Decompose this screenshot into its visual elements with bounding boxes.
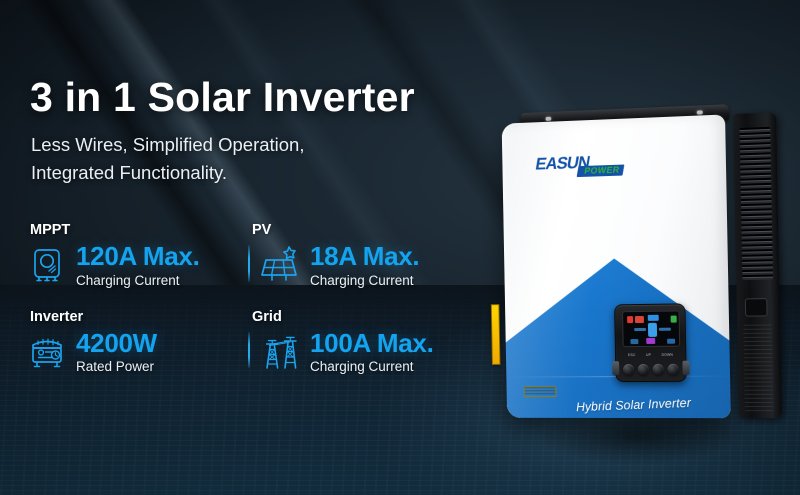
lcd-control-panel: ESC UP DOWN: [614, 303, 687, 382]
softkey-label-up: UP: [646, 352, 651, 356]
inverter-box-icon: [26, 331, 68, 373]
feature-pv: PV 18A Max. Charging C: [238, 222, 450, 288]
display-status-right: [667, 339, 675, 344]
display-icon-grid: [671, 316, 677, 323]
softkey-label-esc: ESC: [628, 353, 636, 357]
display-status-left: [630, 339, 638, 344]
feature-mppt-label: MPPT: [30, 222, 238, 238]
panel-ear-right: [682, 361, 689, 375]
feature-inverter-sub: Rated Power: [76, 359, 157, 374]
feature-grid-value: 100A Max.: [310, 330, 434, 358]
yellow-warning-strip: [491, 304, 501, 365]
softkey-label-down: DOWN: [662, 352, 674, 356]
easun-power-logo: EASUN POWER: [533, 152, 627, 181]
spec-label-sticker: [743, 324, 773, 414]
display-icon-solar: [627, 316, 633, 323]
product-banner: 3 in 1 Solar Inverter Less Wires, Simpli…: [0, 0, 800, 495]
feature-pv-sub: Charging Current: [310, 273, 419, 288]
button-up[interactable]: [638, 363, 649, 374]
display-value-battery: [648, 315, 659, 321]
control-buttons[interactable]: [621, 360, 681, 378]
display-value-pv: [635, 316, 644, 323]
feature-row-top: MPPT 120A Max. Cha: [26, 222, 466, 288]
button-esc[interactable]: [623, 364, 634, 375]
feature-grid: Grid: [238, 309, 450, 375]
display-icon-load: [646, 338, 655, 344]
side-port: [745, 298, 768, 317]
inverter-front-panel: EASUN POWER Hybrid Solar Inverter: [502, 114, 731, 418]
feature-inverter: Inverter: [26, 309, 238, 375]
subheadline-line-2: Integrated Functionality.: [31, 159, 305, 187]
button-down[interactable]: [653, 363, 664, 374]
feature-pv-label: PV: [252, 222, 450, 238]
feature-mppt: MPPT 120A Max. Cha: [26, 222, 238, 288]
vent-louvers: [739, 127, 773, 280]
mppt-controller-icon: [26, 244, 68, 286]
feature-grid: MPPT 120A Max. Cha: [26, 222, 466, 374]
headline: 3 in 1 Solar Inverter: [30, 74, 415, 121]
panel-ear-left: [612, 361, 619, 375]
feature-grid-label: Grid: [252, 309, 450, 325]
solar-panel-icon: [260, 244, 302, 286]
warning-sticker: [524, 386, 557, 397]
feature-mppt-sub: Charging Current: [76, 273, 200, 288]
logo-tagline: POWER: [577, 165, 625, 178]
display-battery-bar: [648, 323, 657, 337]
lcd-display: [622, 310, 680, 347]
feature-inverter-label: Inverter: [30, 309, 238, 325]
display-flow-right: [659, 328, 671, 331]
product-image: EASUN POWER Hybrid Solar Inverter: [492, 106, 788, 448]
inverter-unit: EASUN POWER Hybrid Solar Inverter: [494, 100, 793, 437]
feature-divider-bottom: [248, 332, 250, 369]
display-flow-left: [634, 328, 646, 331]
ventilation-grille: [733, 112, 782, 418]
subheadline: Less Wires, Simplified Operation, Integr…: [31, 131, 305, 187]
feature-inverter-value: 4200W: [76, 330, 157, 358]
feature-divider-top: [248, 245, 250, 282]
button-enter[interactable]: [668, 363, 679, 374]
feature-pv-value: 18A Max.: [310, 243, 419, 271]
softkey-labels: ESC UP DOWN: [623, 350, 679, 359]
subheadline-line-1: Less Wires, Simplified Operation,: [31, 131, 305, 159]
feature-row-bottom: Inverter: [26, 309, 466, 375]
power-tower-icon: [260, 331, 302, 373]
feature-grid-sub: Charging Current: [310, 359, 434, 374]
feature-mppt-value: 120A Max.: [76, 243, 200, 271]
